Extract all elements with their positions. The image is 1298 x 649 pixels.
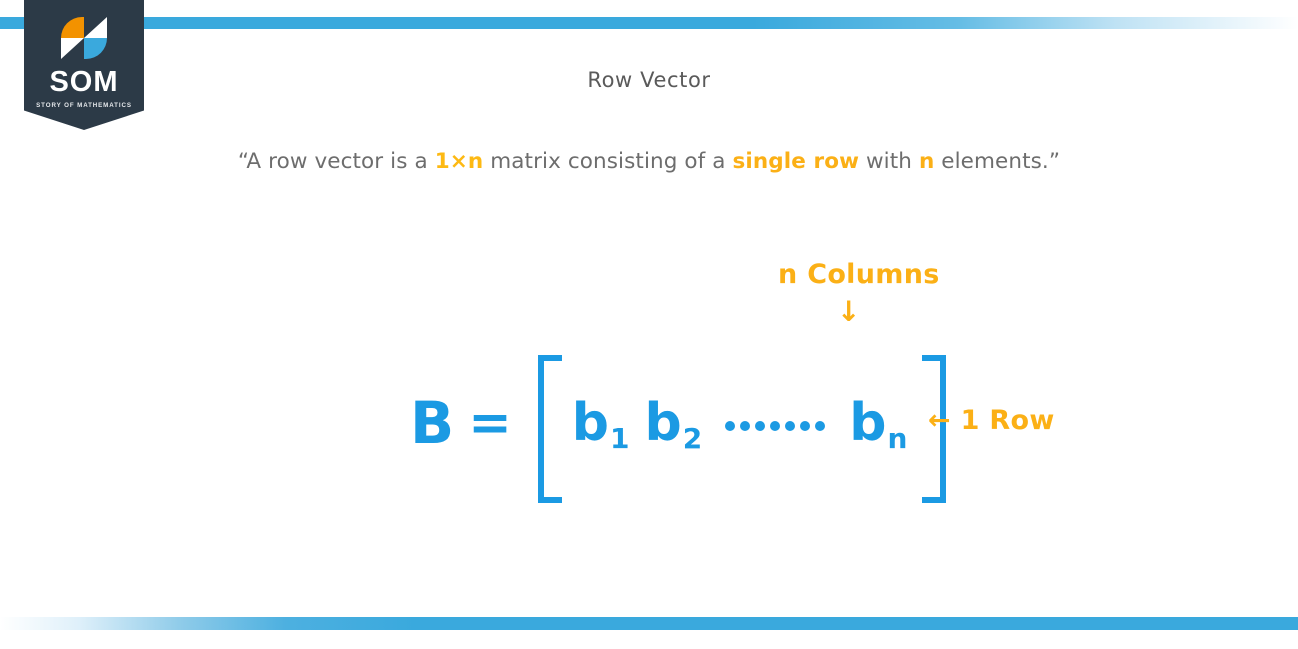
entry-subscript: n [887, 422, 907, 455]
definition-part-4: elements.” [934, 149, 1060, 174]
ellipsis-dots [725, 421, 825, 431]
matrix-entry-bn: bn [849, 397, 906, 449]
ellipsis-dot [770, 421, 780, 431]
logo-quadrant-bottom-right [84, 38, 107, 59]
entry-base: b [572, 393, 609, 453]
definition-text: “A row vector is a 1×n matrix consisting… [0, 149, 1298, 174]
logo-tagline: STORY OF MATHEMATICS [36, 102, 132, 109]
ellipsis-dot [800, 421, 810, 431]
logo-quadrant-top-right [84, 17, 107, 38]
page-title: Row Vector [0, 68, 1298, 92]
equation-row: B = b1 b2 bn [410, 355, 946, 491]
definition-part-3: with [859, 149, 919, 174]
row-vector-formula: n Columns ↓ B = b1 b2 bn [410, 250, 1110, 480]
down-arrow-icon: ↓ [837, 298, 860, 326]
bottom-accent-bar [0, 617, 1298, 630]
one-row-label: ← 1 Row [928, 405, 1055, 436]
matrix-entry-b2: b2 [645, 397, 702, 449]
som-quadrant-mark-icon [61, 17, 107, 59]
bracket-left-icon [538, 355, 562, 503]
matrix-symbol-b: B [410, 394, 454, 452]
definition-highlight-dimensions: 1×n [435, 149, 484, 174]
ellipsis-dot [755, 421, 765, 431]
top-accent-bar [0, 17, 1298, 29]
definition-part-1: “A row vector is a [238, 149, 435, 174]
definition-highlight-single-row: single row [733, 149, 860, 174]
ellipsis-dot [725, 421, 735, 431]
definition-highlight-n: n [919, 149, 934, 174]
entry-subscript: 1 [610, 422, 629, 455]
ellipsis-dot [815, 421, 825, 431]
definition-part-2: matrix consisting of a [483, 149, 732, 174]
matrix-entries: b1 b2 bn [558, 397, 927, 449]
entry-base: b [849, 393, 886, 453]
equals-sign: = [468, 397, 512, 449]
entry-subscript: 2 [683, 422, 702, 455]
som-logo-banner: SOM STORY OF MATHEMATICS [24, 0, 144, 130]
ellipsis-dot [785, 421, 795, 431]
ellipsis-dot [740, 421, 750, 431]
logo-quadrant-bottom-left [61, 38, 84, 59]
matrix-brackets: b1 b2 bn [538, 355, 947, 491]
n-columns-label: n Columns [778, 259, 940, 290]
matrix-entry-b1: b1 [572, 397, 629, 449]
logo-quadrant-top-left [61, 17, 84, 38]
entry-base: b [645, 393, 682, 453]
